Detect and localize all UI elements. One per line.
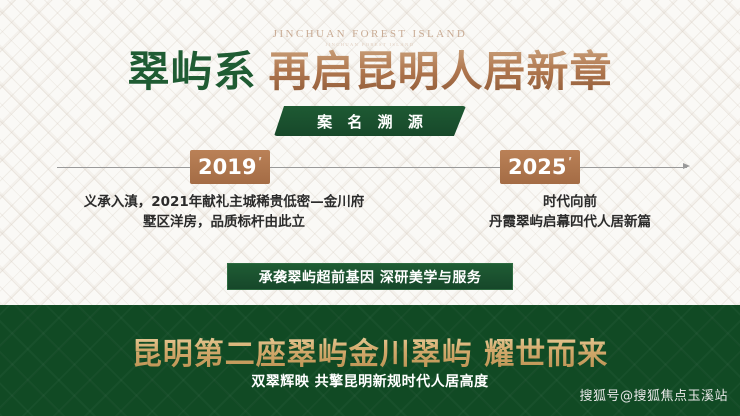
section-badge-label: 案 名 溯 源 (312, 111, 428, 132)
poster-canvas: JINCHUAN FOREST ISLAND JINCHUAN FOREST I… (0, 0, 740, 416)
timeline-year-label: 2025 (508, 155, 566, 179)
timeline-description-line: 丹霞翠屿启幕四代人居新篇 (420, 212, 720, 232)
timeline-description-line: 时代向前 (420, 192, 720, 212)
highlight-bar: 承袭翠屿超前基因 深研美学与服务 (227, 263, 513, 290)
timeline-description-line: 墅区洋房，品质标杆由此立 (44, 212, 404, 232)
bottom-green-panel: 昆明第二座翠屿金川翠屿 耀世而来 双翠辉映 共擎昆明新规时代人居高度 搜狐号@搜… (0, 305, 740, 416)
timeline-year-tick: ′ (258, 154, 261, 169)
timeline-year-tick: ′ (568, 154, 571, 169)
headline-series-name: 翠屿系 (127, 47, 256, 96)
timeline-description-line: 义承入滇，2021年献礼主城稀贵低密—金川府 (44, 192, 404, 212)
timeline: 2019 ′ 2025 ′ (0, 150, 740, 184)
timeline-milestone-2019: 2019 ′ (190, 150, 270, 184)
main-headline: 翠屿系再启昆明人居新章 (0, 51, 740, 93)
timeline-arrow-icon (683, 163, 690, 169)
brand-name-latin: JINCHUAN FOREST ISLAND (0, 28, 740, 40)
highlight-bar-label: 承袭翠屿超前基因 深研美学与服务 (259, 267, 482, 287)
timeline-description-2025: 时代向前 丹霞翠屿启幕四代人居新篇 (420, 192, 720, 232)
section-badge-origin-of-name: 案 名 溯 源 (274, 106, 466, 136)
source-watermark: 搜狐号@搜狐焦点玉溪站 (579, 385, 728, 404)
timeline-year-label: 2019 (198, 155, 256, 179)
brand-eyebrow: JINCHUAN FOREST ISLAND JINCHUAN FOREST I… (0, 28, 740, 47)
timeline-axis-line (57, 167, 687, 168)
headline-tagline: 再启昆明人居新章 (269, 47, 613, 96)
bottom-panel-title: 昆明第二座翠屿金川翠屿 耀世而来 (0, 329, 740, 373)
timeline-milestone-2025: 2025 ′ (500, 150, 580, 184)
timeline-description-2019: 义承入滇，2021年献礼主城稀贵低密—金川府 墅区洋房，品质标杆由此立 (44, 192, 404, 232)
